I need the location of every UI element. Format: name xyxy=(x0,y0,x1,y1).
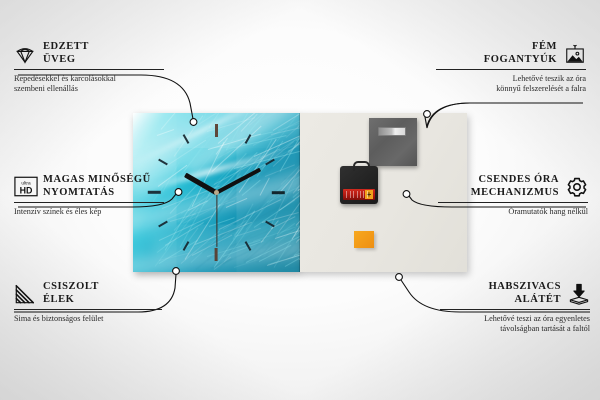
feature-high-quality-print[interactable]: ultra HD MAGAS MINŐSÉGŰ NYOMTATÁS Intenz… xyxy=(14,174,164,217)
divider xyxy=(14,69,164,70)
feature-header: HABSZIVACS ALÁTÉT xyxy=(440,281,590,306)
feature-header: EDZETT ÜVEG xyxy=(14,41,164,66)
infographic-canvas: + xyxy=(0,0,600,400)
svg-text:HD: HD xyxy=(20,185,33,195)
feature-description: Intenzív színek és éles kép xyxy=(14,207,164,217)
feature-title: CSISZOLT ÉLEK xyxy=(43,281,99,306)
quartz-clock-mechanism: + xyxy=(340,166,378,204)
diamond-icon xyxy=(14,43,36,65)
hand-center-cap xyxy=(214,190,219,195)
feature-header: ultra HD MAGAS MINŐSÉGŰ NYOMTATÁS xyxy=(14,174,164,199)
feature-polished-edges[interactable]: CSISZOLT ÉLEK Sima és biztonságos felüle… xyxy=(14,281,162,324)
product-image: + xyxy=(133,113,467,272)
hanger-slot xyxy=(378,127,406,136)
feature-foam-pad[interactable]: HABSZIVACS ALÁTÉT Lehetővé teszi az óra … xyxy=(440,281,590,334)
feature-metal-handles[interactable]: FÉM FOGANTYÚK Lehetővé teszik az óra kön… xyxy=(436,41,586,94)
metal-hanger-plate xyxy=(369,118,417,166)
feature-description: Lehetővé teszik az óra könnyű felszerelé… xyxy=(436,74,586,94)
foam-spacer-pad xyxy=(354,231,374,248)
feature-silent-movement[interactable]: CSENDES ÓRA MECHANIZMUS Óramutatók hang … xyxy=(438,174,588,217)
second-hand xyxy=(216,193,217,247)
feature-header: CSENDES ÓRA MECHANIZMUS xyxy=(438,174,588,199)
wall-hanger-icon xyxy=(564,43,586,65)
feature-description: Repedésekkel és karcolásokkal szembeni e… xyxy=(14,74,164,94)
mechanism-hanging-loop xyxy=(353,161,370,171)
ultra-hd-icon: ultra HD xyxy=(14,176,36,198)
divider xyxy=(14,309,162,310)
aa-battery: + xyxy=(343,189,375,200)
feature-title: HABSZIVACS ALÁTÉT xyxy=(489,281,561,306)
feature-title: FÉM FOGANTYÚK xyxy=(484,41,557,66)
feature-header: CSISZOLT ÉLEK xyxy=(14,281,162,306)
feature-description: Sima és biztonságos felület xyxy=(14,314,162,324)
feature-description: Lehetővé teszi az óra egyenletes távolsá… xyxy=(440,314,590,334)
divider xyxy=(14,202,164,203)
divider xyxy=(438,202,588,203)
foam-pad-arrow-icon xyxy=(568,283,590,305)
divider xyxy=(440,309,590,310)
feature-title: CSENDES ÓRA MECHANIZMUS xyxy=(471,174,559,199)
beveled-edge-icon xyxy=(14,283,36,305)
divider xyxy=(436,69,586,70)
feature-tempered-glass[interactable]: EDZETT ÜVEG Repedésekkel és karcolásokka… xyxy=(14,41,164,94)
feature-header: FÉM FOGANTYÚK xyxy=(436,41,586,66)
feature-description: Óramutatók hang nélkül xyxy=(438,207,588,217)
feature-title: MAGAS MINŐSÉGŰ NYOMTATÁS xyxy=(43,174,151,199)
feature-title: EDZETT ÜVEG xyxy=(43,41,89,66)
gear-icon xyxy=(566,176,588,198)
